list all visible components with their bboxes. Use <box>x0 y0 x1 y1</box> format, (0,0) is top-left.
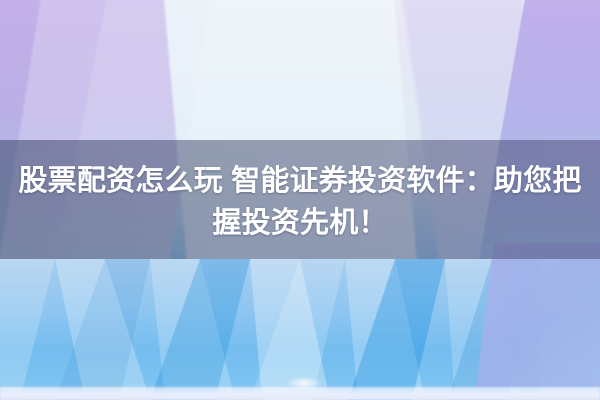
background-facet-bottom-right-periwinkle <box>476 243 600 388</box>
banner-headline: 股票配资怎么玩 智能证券投资软件：助您把握投资先机！ <box>8 160 592 244</box>
promo-banner: 股票配资怎么玩 智能证券投资软件：助您把握投资先机！ <box>0 0 600 400</box>
background-bottom-strip <box>0 387 600 400</box>
